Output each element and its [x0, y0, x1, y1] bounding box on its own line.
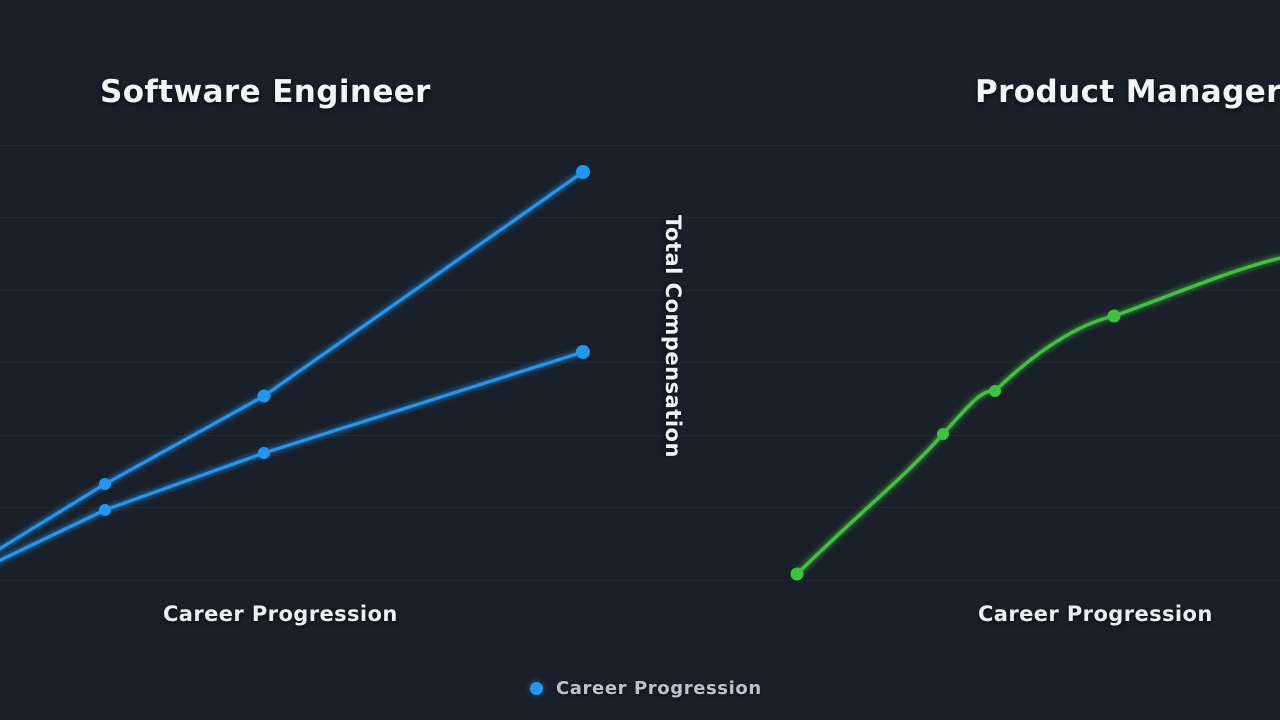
gridline — [0, 217, 1280, 218]
series-line-pm-track — [797, 258, 1280, 574]
gridline — [0, 435, 1280, 436]
panel-title-software-engineer: Software Engineer — [100, 74, 431, 110]
series-line-se-standard — [0, 352, 583, 566]
gridline — [0, 580, 1280, 581]
xaxis-label-right: Career Progression — [978, 602, 1213, 626]
legend-item-label: Career Progression — [556, 678, 762, 699]
series-markers-se-standard — [99, 345, 590, 516]
yaxis-label-total-compensation: Total Compensation — [659, 215, 685, 475]
xaxis-label-left: Career Progression — [163, 602, 398, 626]
series-markers-pm-track — [791, 310, 1121, 581]
series-line-se-senior — [0, 172, 583, 556]
series-markers-se-senior — [99, 165, 590, 490]
panel-title-product-manager: Product Manager — [975, 74, 1280, 110]
chart-legend: Career Progression — [530, 678, 762, 699]
gridline — [0, 507, 1280, 508]
gridline — [0, 290, 1280, 291]
gridline — [0, 362, 1280, 363]
chart-canvas: Software Engineer Career Progres — [0, 0, 1280, 720]
legend-swatch-icon — [530, 682, 543, 695]
gridline — [0, 145, 1280, 146]
